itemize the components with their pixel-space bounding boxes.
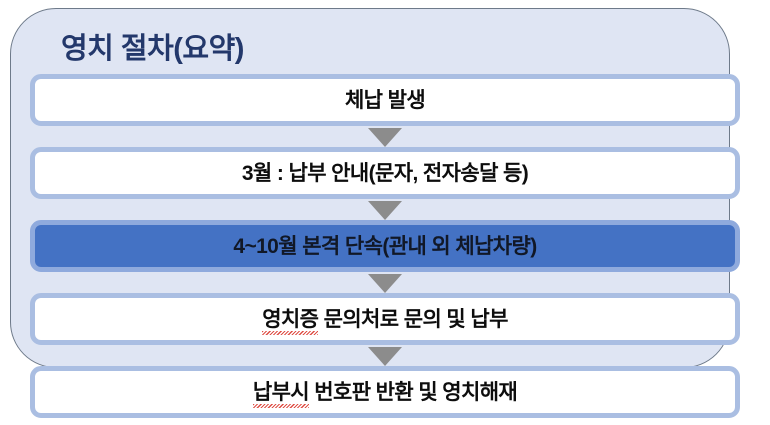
process-step-4: 영치증 문의처로 문의 및 납부 — [30, 293, 740, 345]
triangle-down-icon — [368, 128, 402, 147]
process-step-4-label: 영치증 문의처로 문의 및 납부 — [262, 309, 508, 330]
process-step-5-label-rest: 번호판 반환 및 영치해재 — [309, 381, 517, 404]
triangle-down-icon — [368, 347, 402, 366]
process-step-2-label: 3월 : 납부 안내(문자, 전자송달 등) — [242, 163, 528, 184]
diagram-canvas: 영치 절차(요약) 체납 발생 3월 : 납부 안내(문자, 전자송달 등) 4… — [0, 0, 770, 425]
spellcheck-underline: 납부시 — [253, 382, 309, 403]
process-step-5-label: 납부시 번호판 반환 및 영치해재 — [253, 382, 517, 403]
triangle-down-icon — [368, 201, 402, 220]
process-step-5: 납부시 번호판 반환 및 영치해재 — [30, 366, 740, 418]
process-flow: 체납 발생 3월 : 납부 안내(문자, 전자송달 등) 4~10월 본격 단속… — [30, 74, 740, 418]
connector-4 — [30, 345, 740, 366]
triangle-down-icon — [368, 274, 402, 293]
page-title: 영치 절차(요약) — [61, 25, 244, 67]
process-step-2: 3월 : 납부 안내(문자, 전자송달 등) — [30, 147, 740, 199]
connector-3 — [30, 272, 740, 293]
connector-2 — [30, 199, 740, 220]
process-step-4-label-rest: 문의처로 문의 및 납부 — [318, 308, 507, 331]
process-step-1: 체납 발생 — [30, 74, 740, 126]
spellcheck-underline: 영치증 — [262, 309, 318, 330]
process-step-3: 4~10월 본격 단속(관내 외 체납차량) — [30, 220, 740, 272]
process-step-1-label: 체납 발생 — [345, 90, 425, 111]
connector-1 — [30, 126, 740, 147]
process-step-3-label: 4~10월 본격 단속(관내 외 체납차량) — [233, 236, 536, 257]
